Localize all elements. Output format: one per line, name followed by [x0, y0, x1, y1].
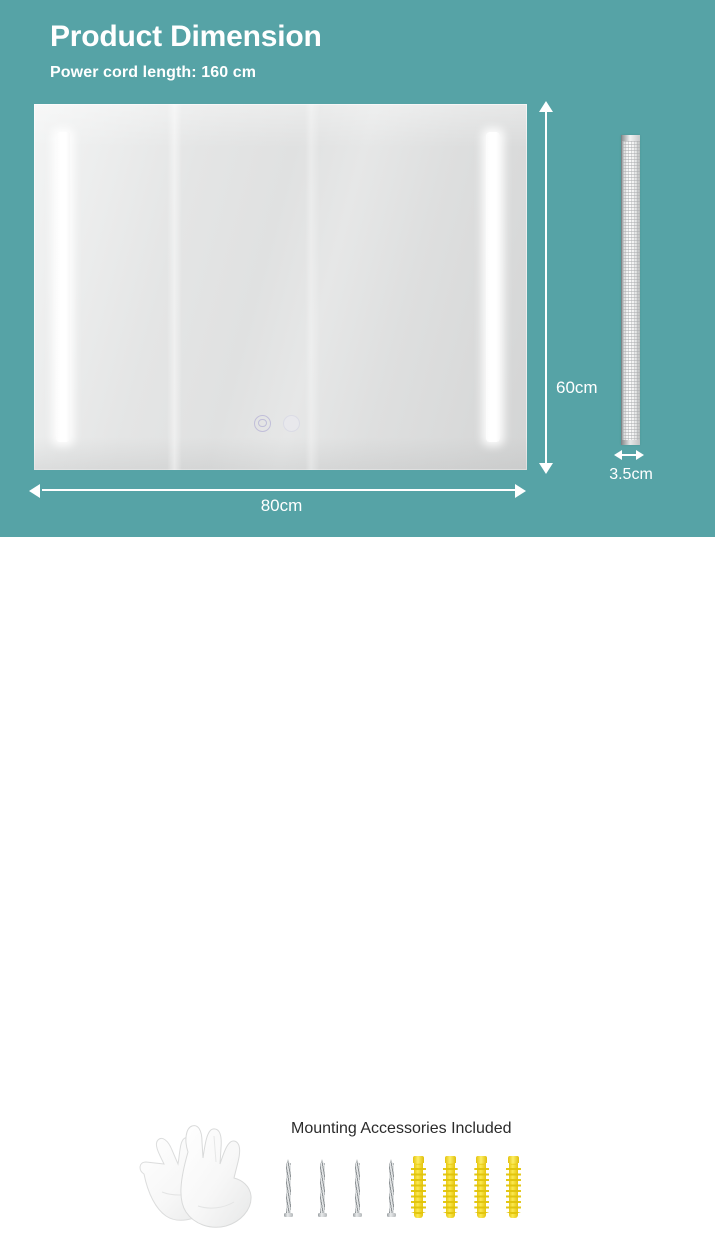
- width-dimension-label: 80cm: [0, 496, 563, 516]
- white-cotton-gloves-icon: [128, 1096, 268, 1236]
- anchor-ribs: [411, 1164, 426, 1214]
- arrow-up-icon: [539, 101, 553, 112]
- arrow-left-small-icon: [614, 450, 622, 460]
- screw-head: [318, 1213, 327, 1217]
- screw-head: [284, 1213, 293, 1217]
- height-dimension-label: 60cm: [556, 378, 598, 398]
- anchor-collar: [508, 1156, 519, 1163]
- wall-anchor-2: [443, 1156, 458, 1218]
- screw-head: [353, 1213, 362, 1217]
- anchor-ribs: [506, 1164, 521, 1214]
- accessories-title: Mounting Accessories Included: [291, 1120, 512, 1138]
- screw-shaft: [320, 1163, 325, 1213]
- anchor-collar: [413, 1156, 424, 1163]
- mounting-screws-group: [284, 1155, 396, 1217]
- anchor-ribs: [443, 1164, 458, 1214]
- page-title: Product Dimension: [50, 20, 322, 54]
- touch-sensor-button-power[interactable]: [254, 415, 271, 432]
- wall-anchor-plugs-group: [411, 1152, 521, 1218]
- screw-3: [353, 1159, 362, 1217]
- power-icon: [258, 419, 267, 428]
- height-dimension-line: [545, 110, 547, 464]
- arrow-right-small-icon: [636, 450, 644, 460]
- wall-anchor-1: [411, 1156, 426, 1218]
- screw-shaft: [355, 1163, 360, 1213]
- thickness-dimension-label: 3.5cm: [581, 466, 681, 484]
- wall-anchor-3: [474, 1156, 489, 1218]
- touch-control-panel: [254, 410, 324, 436]
- led-light-strip-left: [56, 132, 70, 442]
- touch-sensor-button-dimmer[interactable]: [283, 415, 300, 432]
- anchor-collar: [476, 1156, 487, 1163]
- arrow-down-icon: [539, 463, 553, 474]
- led-mirror-side-view: [621, 135, 640, 445]
- width-dimension-line: [42, 489, 520, 491]
- screw-shaft: [286, 1163, 291, 1213]
- anchor-collar: [445, 1156, 456, 1163]
- product-dimension-panel: Product Dimension Power cord length: 160…: [0, 0, 715, 537]
- anchor-ribs: [474, 1164, 489, 1214]
- led-light-strip-right: [486, 132, 500, 442]
- screw-shaft: [389, 1163, 394, 1213]
- power-cord-length-label: Power cord length: 160 cm: [50, 64, 256, 82]
- wall-anchor-4: [506, 1156, 521, 1218]
- screw-4: [387, 1159, 396, 1217]
- screw-1: [284, 1159, 293, 1217]
- screw-head: [387, 1213, 396, 1217]
- mounting-accessories-panel: Mounting Accessories Included: [0, 537, 715, 700]
- led-mirror-front-view: [34, 104, 527, 470]
- screw-2: [318, 1159, 327, 1217]
